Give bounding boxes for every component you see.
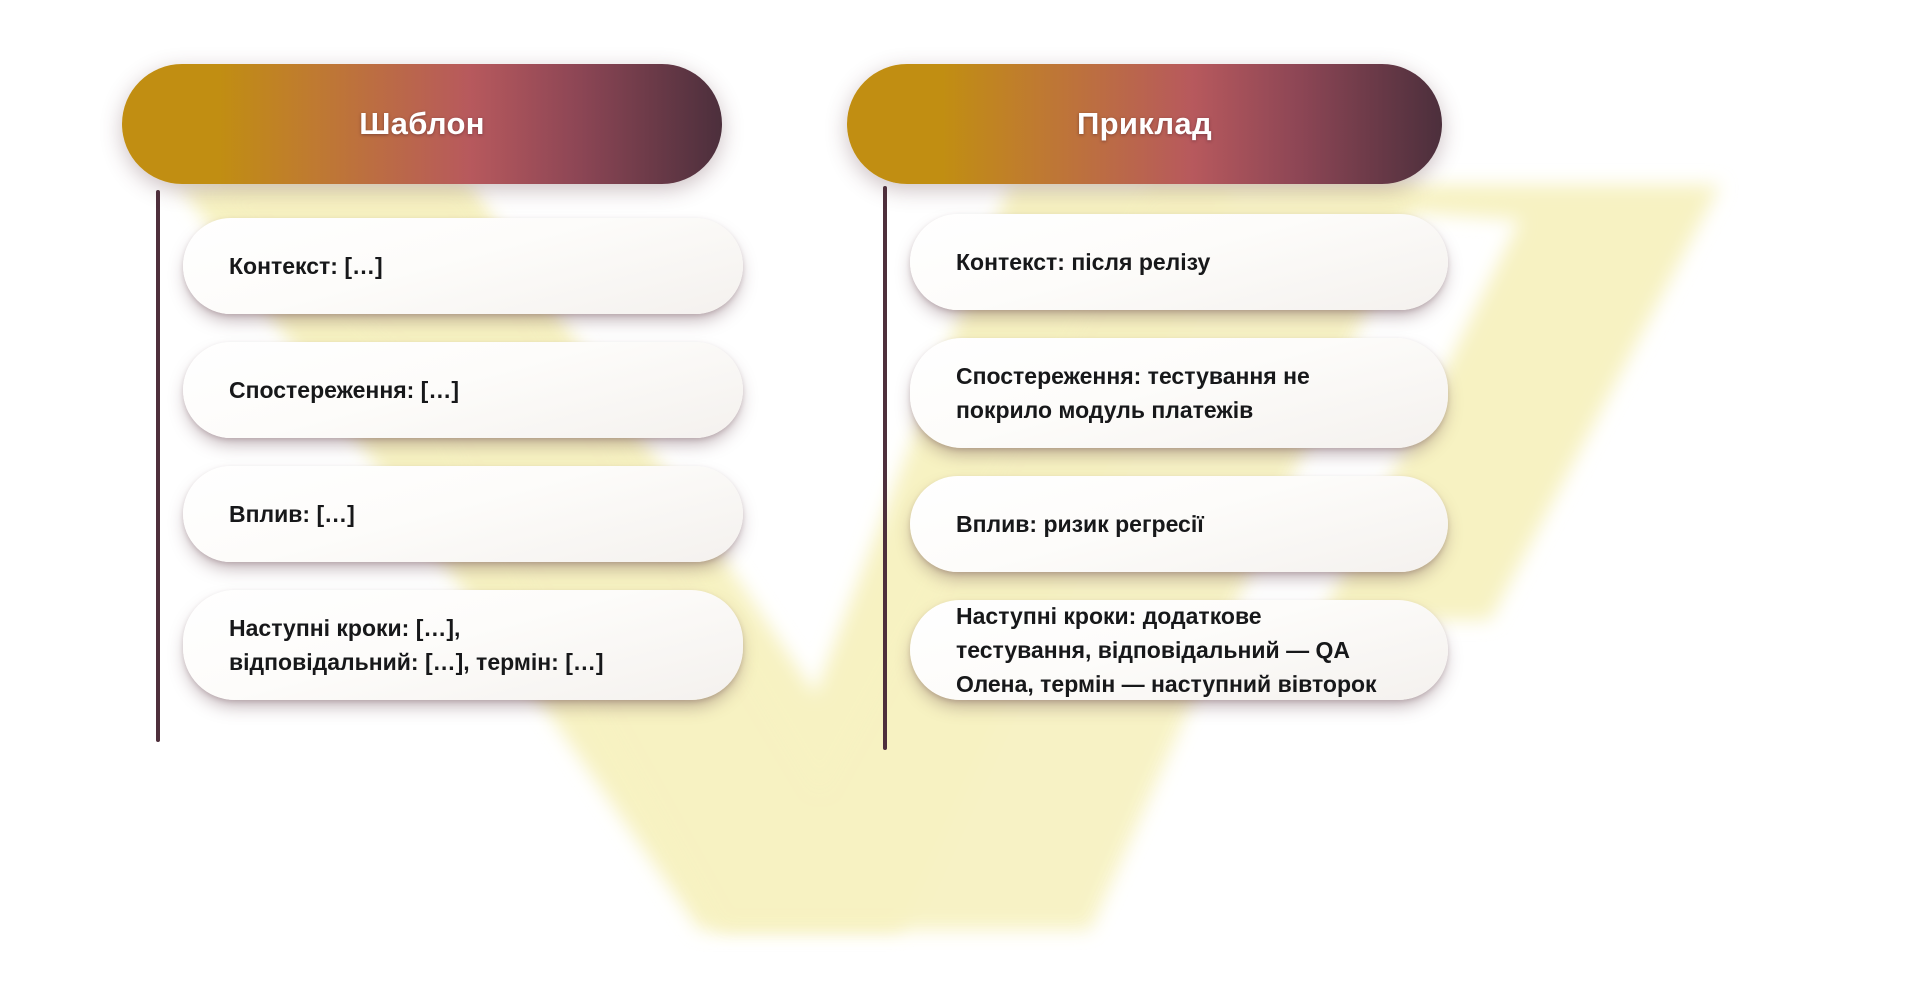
card-template-next-steps[interactable]: Наступні кроки: […], відповідальний: […]… [183, 590, 743, 700]
column-spine-example [883, 186, 887, 750]
slide-canvas: Шаблон Контекст: […] Спостереження: […] … [0, 0, 1920, 983]
column-example: Приклад Контекст: після релізу Спостереж… [870, 0, 1615, 983]
card-text: Спостереження: тестування не покрило мод… [956, 359, 1310, 427]
card-template-impact[interactable]: Вплив: […] [183, 466, 743, 562]
card-text: Вплив: ризик регресії [956, 507, 1204, 541]
header-title-example: Приклад [1077, 106, 1212, 142]
header-pill-template[interactable]: Шаблон [122, 64, 722, 184]
card-template-context[interactable]: Контекст: […] [183, 218, 743, 314]
card-example-observation[interactable]: Спостереження: тестування не покрило мод… [910, 338, 1448, 448]
card-text: Наступні кроки: додаткове тестування, ві… [956, 599, 1377, 701]
card-text: Наступні кроки: […], відповідальний: […]… [229, 611, 604, 679]
card-text: Контекст: після релізу [956, 245, 1210, 279]
card-list-example: Контекст: після релізу Спостереження: те… [910, 214, 1470, 728]
card-example-next-steps[interactable]: Наступні кроки: додаткове тестування, ві… [910, 600, 1448, 700]
card-template-observation[interactable]: Спостереження: […] [183, 342, 743, 438]
header-pill-example[interactable]: Приклад [847, 64, 1442, 184]
card-example-context[interactable]: Контекст: після релізу [910, 214, 1448, 310]
header-title-template: Шаблон [359, 106, 485, 142]
column-template: Шаблон Контекст: […] Спостереження: […] … [145, 0, 890, 983]
card-text: Спостереження: […] [229, 373, 459, 407]
card-text: Вплив: […] [229, 497, 355, 531]
column-spine-template [156, 190, 160, 742]
card-text: Контекст: […] [229, 249, 383, 283]
card-example-impact[interactable]: Вплив: ризик регресії [910, 476, 1448, 572]
card-list-template: Контекст: […] Спостереження: […] Вплив: … [183, 218, 743, 728]
